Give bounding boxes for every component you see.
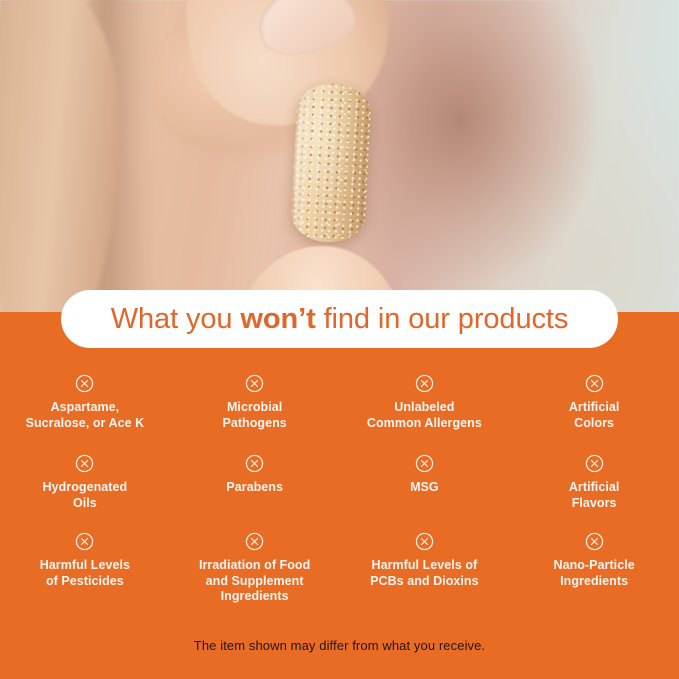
exclusions-grid: Aspartame,Sucralose, or Ace K MicrobialP…	[0, 368, 679, 618]
circle-x-icon	[245, 532, 264, 551]
grid-row: Harmful Levelsof Pesticides Irradiation …	[0, 526, 679, 618]
circle-x-icon	[585, 374, 604, 393]
title-emphasis: won’t	[240, 303, 315, 335]
exclusion-label: Parabens	[226, 480, 283, 496]
circle-x-icon	[75, 532, 94, 551]
exclusion-item: Irradiation of Foodand SupplementIngredi…	[170, 526, 340, 618]
exclusion-item: Aspartame,Sucralose, or Ace K	[0, 368, 170, 448]
exclusion-label: Nano-ParticleIngredients	[554, 558, 635, 589]
exclusion-item: Harmful Levels ofPCBs and Dioxins	[340, 526, 510, 618]
exclusion-label: Harmful Levelsof Pesticides	[40, 558, 130, 589]
exclusion-label: MicrobialPathogens	[222, 400, 286, 431]
circle-x-icon	[415, 454, 434, 473]
disclaimer-text: The item shown may differ from what you …	[0, 638, 679, 653]
exclusion-item: Parabens	[170, 448, 340, 526]
circle-x-icon	[585, 532, 604, 551]
exclusion-label: HydrogenatedOils	[43, 480, 128, 511]
headline-pill: What you won’t find in our products	[61, 290, 618, 348]
grid-row: HydrogenatedOils Parabens MSG	[0, 448, 679, 526]
exclusion-label: Irradiation of Foodand SupplementIngredi…	[199, 558, 310, 605]
title-suffix: find in our products	[316, 303, 569, 335]
exclusion-item: Harmful Levelsof Pesticides	[0, 526, 170, 618]
circle-x-icon	[75, 374, 94, 393]
exclusion-item: Nano-ParticleIngredients	[509, 526, 679, 618]
exclusion-label: UnlabeledCommon Allergens	[367, 400, 482, 431]
title-prefix: What you	[111, 303, 241, 335]
exclusion-item: UnlabeledCommon Allergens	[340, 368, 510, 448]
exclusion-item: HydrogenatedOils	[0, 448, 170, 526]
product-photo	[0, 0, 679, 318]
hand-blurred-limb	[0, 0, 120, 318]
product-infographic: What you won’t find in our products Aspa…	[0, 0, 679, 679]
circle-x-icon	[415, 532, 434, 551]
circle-x-icon	[585, 454, 604, 473]
exclusion-item: ArtificialColors	[509, 368, 679, 448]
circle-x-icon	[245, 374, 264, 393]
exclusion-item: MicrobialPathogens	[170, 368, 340, 448]
exclusion-label: MSG	[410, 480, 439, 496]
circle-x-icon	[245, 454, 264, 473]
page-title: What you won’t find in our products	[111, 303, 568, 336]
exclusion-item: MSG	[340, 448, 510, 526]
grid-row: Aspartame,Sucralose, or Ace K MicrobialP…	[0, 368, 679, 448]
circle-x-icon	[415, 374, 434, 393]
exclusion-label: Harmful Levels ofPCBs and Dioxins	[370, 558, 478, 589]
circle-x-icon	[75, 454, 94, 473]
exclusion-item: ArtificialFlavors	[509, 448, 679, 526]
exclusion-label: Aspartame,Sucralose, or Ace K	[26, 400, 145, 431]
exclusion-label: ArtificialColors	[569, 400, 620, 431]
tablet-icon	[290, 82, 372, 244]
exclusion-label: ArtificialFlavors	[569, 480, 620, 511]
